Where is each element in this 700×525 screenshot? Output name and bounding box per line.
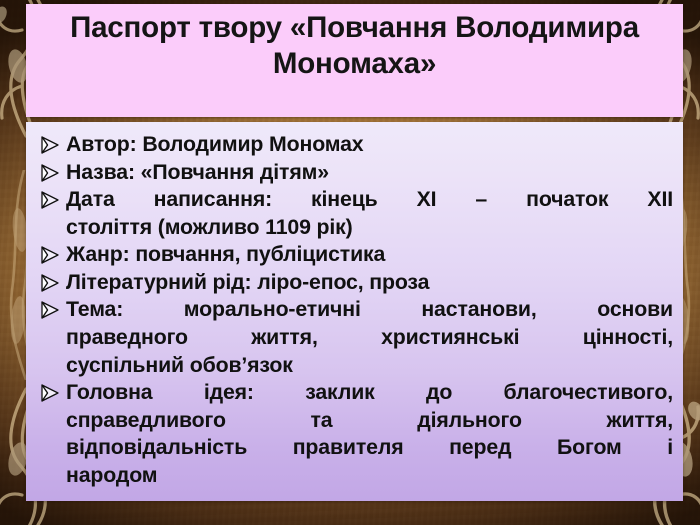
bullet-line: суспільний обов’язок [66, 352, 673, 380]
bullet-item-author: Автор: Володимир Мономах [36, 131, 673, 159]
bullet-item-genre: Жанр: повчання, публіцистика [36, 241, 673, 269]
slide-title-box: Паспорт твору «Повчання Володимира Моном… [26, 4, 683, 117]
arrow-bullet-icon [38, 298, 62, 322]
slide-content-box: Автор: Володимир МономахНазва: «Повчання… [26, 122, 683, 501]
presentation-slide: Паспорт твору «Повчання Володимира Моном… [0, 0, 700, 525]
arrow-bullet-icon [38, 133, 62, 157]
bullet-line: відповідальність правителя перед Богом і [66, 434, 673, 462]
bullet-list: Автор: Володимир МономахНазва: «Повчання… [36, 131, 673, 490]
arrow-bullet-icon [38, 271, 62, 295]
bullet-item-theme: Тема: морально-етичні настанови, основип… [36, 296, 673, 379]
bullet-line: Назва: «Повчання дітям» [66, 159, 673, 187]
bullet-item-main-idea: Головна ідея: заклик до благочестивого,с… [36, 379, 673, 489]
bullet-line: Жанр: повчання, публіцистика [66, 241, 673, 269]
bullet-item-title-name: Назва: «Повчання дітям» [36, 159, 673, 187]
bullet-line: Дата написання: кінець XI – початок XII [66, 186, 673, 214]
page-title: Паспорт твору «Повчання Володимира Моном… [40, 10, 669, 82]
bullet-item-literary-kind: Літературний рід: ліро-епос, проза [36, 269, 673, 297]
bullet-line: праведного життя, християнські цінності, [66, 324, 673, 352]
bullet-line: Літературний рід: ліро-епос, проза [66, 269, 673, 297]
arrow-bullet-icon [38, 381, 62, 405]
bullet-line: народом [66, 462, 673, 490]
bullet-line: справедливого та діяльного життя, [66, 407, 673, 435]
bullet-line: Автор: Володимир Мономах [66, 131, 673, 159]
arrow-bullet-icon [38, 161, 62, 185]
bullet-item-date-written: Дата написання: кінець XI – початок XIIс… [36, 186, 673, 241]
bullet-line: Тема: морально-етичні настанови, основи [66, 296, 673, 324]
bullet-line: Головна ідея: заклик до благочестивого, [66, 379, 673, 407]
arrow-bullet-icon [38, 243, 62, 267]
arrow-bullet-icon [38, 188, 62, 212]
bullet-line: століття (можливо 1109 рік) [66, 214, 673, 242]
